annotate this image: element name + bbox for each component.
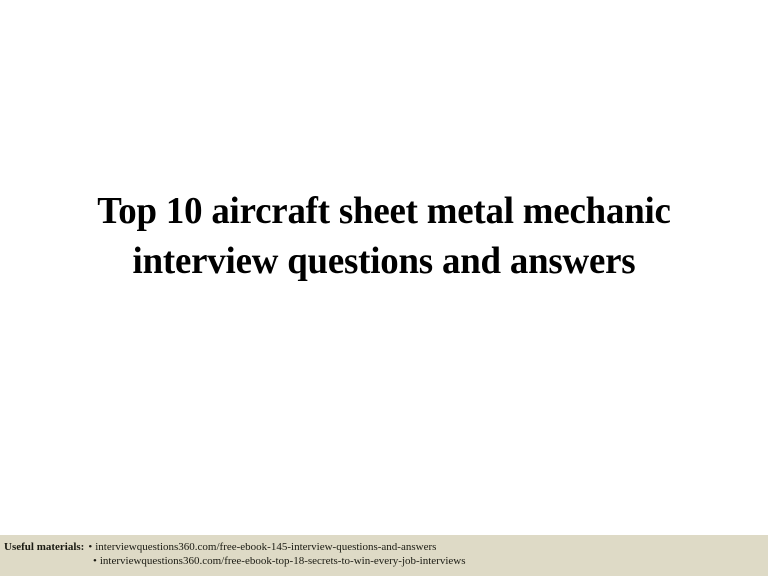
- footer-link-1[interactable]: interviewquestions360.com/free-ebook-145…: [95, 541, 436, 553]
- title-line-1: Top 10 aircraft sheet metal mechanic: [74, 186, 695, 236]
- page-title: Top 10 aircraft sheet metal mechanic int…: [64, 186, 704, 286]
- bullet-icon-1: •: [84, 540, 95, 554]
- footer-link-2[interactable]: interviewquestions360.com/free-ebook-top…: [100, 555, 466, 567]
- footer-row-2: •interviewquestions360.com/free-ebook-to…: [4, 554, 764, 568]
- footer-row-1: Useful materials:•interviewquestions360.…: [4, 540, 764, 554]
- title-line-2: interview questions and answers: [74, 236, 695, 286]
- footer-band: Useful materials:•interviewquestions360.…: [0, 535, 768, 576]
- slide-canvas: Top 10 aircraft sheet metal mechanic int…: [0, 0, 768, 576]
- footer-content: Useful materials:•interviewquestions360.…: [4, 540, 764, 568]
- useful-materials-label: Useful materials:: [4, 541, 84, 553]
- bullet-icon-2: •: [89, 554, 100, 568]
